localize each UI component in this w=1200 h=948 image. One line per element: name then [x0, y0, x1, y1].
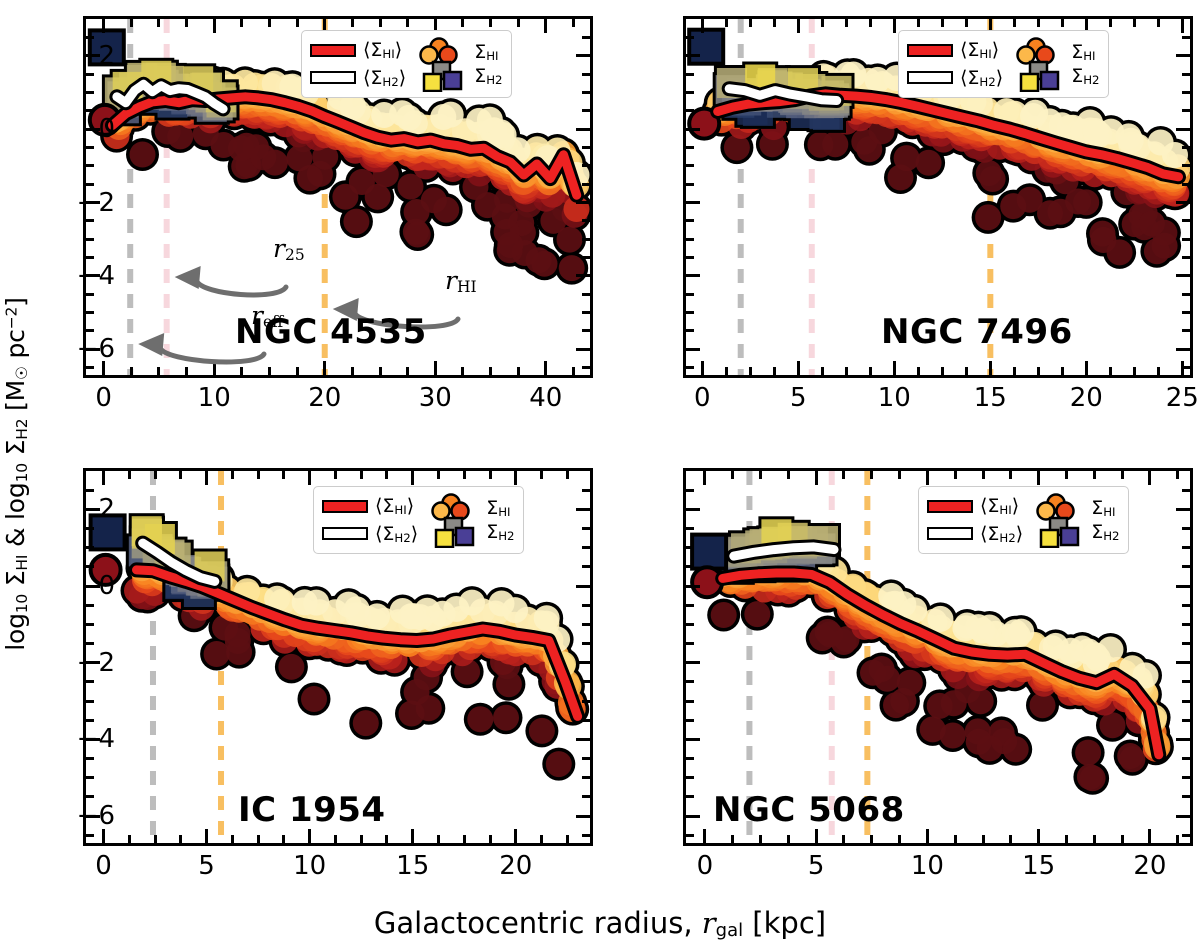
y-tick-minor [86, 700, 94, 703]
legend-item-mean-h2[interactable]: ⟨ΣH2⟩ [310, 67, 406, 89]
y-tick-minor-right [582, 238, 590, 241]
y-tick-minor [686, 164, 694, 167]
x-tick-label: 10 [198, 383, 231, 413]
hi-point [491, 122, 517, 148]
y-tick-minor-right [582, 256, 590, 259]
x-tick-major-top [205, 471, 208, 485]
y-tick-label: −4 [71, 724, 115, 754]
y-tick-minor [86, 795, 94, 798]
y-tick-minor [686, 73, 694, 76]
x-tick-minor-top [1133, 19, 1136, 27]
x-tick-minor [257, 835, 260, 843]
hi-point [975, 204, 1001, 230]
legend-label-sigma-h2: ΣH2 [1071, 65, 1099, 87]
x-tick-label: 5 [808, 851, 825, 881]
y-tick-minor [86, 604, 94, 607]
hi-point [1017, 187, 1043, 213]
y-tick-minor [86, 489, 94, 492]
x-tick-label: 20 [499, 851, 532, 881]
y-tick-minor [686, 642, 694, 645]
x-tick-minor [1109, 367, 1112, 375]
y-tick-minor [86, 91, 94, 94]
hi-point [475, 192, 501, 218]
hi-point [546, 751, 572, 777]
x-tick-minor-top [1009, 471, 1012, 479]
y-tick-major-right [576, 348, 590, 351]
legend-label-mean-h2: ⟨ΣH2⟩ [363, 67, 406, 89]
x-tick-minor-top [787, 471, 790, 479]
x-tick-minor [1013, 367, 1016, 375]
legend-item-mean-hi[interactable]: ⟨ΣHI⟩ [927, 495, 1023, 517]
y-tick-major-right [1176, 815, 1190, 818]
x-tick-minor [982, 835, 985, 843]
y-tick-minor [86, 256, 94, 259]
x-tick-minor-top [240, 19, 243, 27]
h2-point-origin [689, 30, 723, 64]
x-tick-major [701, 361, 704, 375]
y-tick-minor-right [582, 293, 590, 296]
x-tick-minor-top [385, 471, 388, 479]
x-tick-minor [379, 367, 382, 375]
y-tick-minor [86, 680, 94, 683]
annotation-r25: r25 [273, 234, 305, 264]
legend-square-marker-2 [1041, 72, 1058, 89]
y-tick-minor-right [582, 719, 590, 722]
x-tick-minor [1065, 835, 1068, 843]
y-tick-minor-right [582, 164, 590, 167]
x-tick-major [703, 829, 706, 843]
hi-point [286, 145, 312, 171]
y-tick-minor-right [582, 604, 590, 607]
x-tick-minor-top [1176, 471, 1179, 479]
x-tick-label: 5 [198, 851, 215, 881]
y-tick-minor-right [1182, 256, 1190, 259]
y-tick-minor-right [1182, 366, 1190, 369]
x-tick-minor-top [1093, 471, 1096, 479]
y-tick-major-right [576, 201, 590, 204]
x-tick-minor [941, 367, 944, 375]
x-tick-label: 15 [974, 383, 1007, 413]
x-tick-minor [870, 835, 873, 843]
x-tick-major-top [797, 19, 800, 33]
x-tick-label: 30 [419, 383, 452, 413]
hi-point [405, 222, 431, 248]
y-tick-major [686, 128, 700, 131]
hi-point [927, 693, 953, 719]
y-tick-minor [686, 311, 694, 314]
x-tick-minor [179, 835, 182, 843]
x-tick-minor-top [759, 471, 762, 479]
y-tick-minor [86, 146, 94, 149]
hi-point [496, 671, 522, 697]
x-tick-minor-top [1109, 19, 1112, 27]
x-tick-minor-top [870, 471, 873, 479]
legend: ⟨ΣHI⟩⟨ΣH2⟩ΣHIΣH2 [301, 30, 512, 98]
x-tick-major-top [308, 471, 311, 485]
y-tick-major [686, 661, 700, 664]
x-tick-major-top [102, 19, 105, 33]
hi-point [529, 718, 555, 744]
y-tick-label: 2 [71, 41, 115, 71]
x-tick-minor-top [1037, 19, 1040, 27]
x-tick-minor-top [917, 19, 920, 27]
y-tick-minor-right [1182, 73, 1190, 76]
legend-label-mean-hi: ⟨ΣHI⟩ [960, 39, 999, 61]
hi-point [336, 592, 362, 618]
x-tick-minor [385, 835, 388, 843]
y-tick-minor-right [582, 73, 590, 76]
legend-square-marker-2 [444, 72, 461, 89]
x-tick-minor [845, 367, 848, 375]
x-tick-minor [1176, 835, 1179, 843]
y-tick-minor-right [582, 91, 590, 94]
hi-point [807, 132, 833, 158]
y-tick-major-right [1176, 274, 1190, 277]
x-tick-minor-top [351, 19, 354, 27]
y-tick-major-right [1176, 201, 1190, 204]
legend-marker-labels: ΣHIΣH2 [474, 41, 502, 87]
x-tick-minor [725, 367, 728, 375]
x-tick-major [893, 361, 896, 375]
x-tick-minor-top [773, 19, 776, 27]
y-tick-minor [86, 776, 94, 779]
y-tick-minor [86, 109, 94, 112]
y-tick-minor-right [582, 183, 590, 186]
y-tick-label: 0 [71, 114, 115, 144]
legend-item-mean-h2[interactable]: ⟨ΣH2⟩ [907, 67, 1003, 89]
y-tick-minor-right [1182, 834, 1190, 837]
panel-ngc-4535: ⟨ΣHI⟩⟨ΣH2⟩ΣHIΣH2NGC 4535r25reffrHI [83, 16, 593, 378]
legend: ⟨ΣHI⟩⟨ΣH2⟩ΣHIΣH2 [898, 30, 1109, 98]
x-tick-major-top [544, 19, 547, 33]
y-tick-major-right [1176, 661, 1190, 664]
y-tick-major [686, 54, 700, 57]
hi-point [493, 705, 519, 731]
x-tick-major-top [514, 471, 517, 485]
x-tick-minor [489, 835, 492, 843]
y-tick-major-right [1176, 54, 1190, 57]
y-tick-minor-right [582, 366, 590, 369]
y-tick-minor-right [582, 311, 590, 314]
y-tick-major [686, 348, 700, 351]
legend-markers: ΣHIΣH2 [416, 36, 502, 92]
legend-label-sigma-hi: ΣHI [474, 41, 502, 63]
x-tick-minor [566, 835, 569, 843]
x-tick-minor [240, 367, 243, 375]
y-tick-minor [86, 36, 94, 39]
hi-point [1148, 130, 1174, 156]
x-tick-minor-top [954, 471, 957, 479]
y-tick-minor [86, 238, 94, 241]
x-tick-major [1148, 829, 1151, 843]
y-tick-minor-right [1182, 795, 1190, 798]
hi-point [353, 710, 379, 736]
x-tick-major [1085, 361, 1088, 375]
x-tick-minor-top [157, 19, 160, 27]
legend-marker-labels: ΣHIΣH2 [486, 497, 514, 543]
h2-point-origin [692, 535, 726, 569]
y-tick-minor-right [582, 219, 590, 222]
y-tick-minor [686, 36, 694, 39]
x-tick-minor [128, 835, 131, 843]
panel-ic-1954: ⟨ΣHI⟩⟨ΣH2⟩ΣHIΣH2IC 1954 [83, 468, 593, 846]
y-tick-minor [686, 700, 694, 703]
legend-square-marker-1 [436, 530, 453, 547]
y-tick-minor-right [582, 489, 590, 492]
hi-point [1065, 189, 1091, 215]
x-tick-minor-top [296, 19, 299, 27]
y-tick-minor-right [1182, 776, 1190, 779]
x-tick-minor-top [842, 471, 845, 479]
legend-label-sigma-h2: ΣH2 [486, 521, 514, 543]
x-tick-minor [157, 367, 160, 375]
y-tick-minor-right [1182, 642, 1190, 645]
x-tick-minor [773, 367, 776, 375]
y-tick-minor [86, 642, 94, 645]
y-tick-minor-right [582, 834, 590, 837]
y-tick-minor-right [582, 757, 590, 760]
x-tick-minor-top [360, 471, 363, 479]
x-tick-major [323, 361, 326, 375]
x-tick-minor [489, 367, 492, 375]
y-tick-major-right [576, 738, 590, 741]
legend-marker-labels: ΣHIΣH2 [1091, 497, 1119, 543]
y-tick-minor [686, 546, 694, 549]
x-tick-minor-top [257, 471, 260, 479]
x-tick-minor [731, 835, 734, 843]
legend-label-mean-h2: ⟨ΣH2⟩ [960, 67, 1003, 89]
legend-swatch-mean-hi [322, 500, 368, 513]
legend-markers: ΣHIΣH2 [1033, 492, 1119, 548]
y-tick-minor-right [1182, 489, 1190, 492]
y-tick-major [686, 274, 700, 277]
x-tick-major [815, 829, 818, 843]
x-tick-minor [759, 835, 762, 843]
hi-point [228, 135, 254, 161]
x-tick-label: 0 [95, 383, 112, 413]
y-tick-major [686, 815, 700, 818]
y-tick-minor [686, 109, 694, 112]
x-tick-minor-top [572, 19, 575, 27]
x-tick-major [213, 361, 216, 375]
x-tick-minor-top [268, 19, 271, 27]
legend-item-mean-hi[interactable]: ⟨ΣHI⟩ [907, 39, 1003, 61]
hi-point [927, 606, 953, 632]
hi-point [1075, 740, 1101, 766]
y-tick-major [686, 508, 700, 511]
hi-point [894, 145, 920, 171]
x-tick-major-top [701, 19, 704, 33]
x-tick-minor-top [749, 19, 752, 27]
y-tick-minor-right [1182, 109, 1190, 112]
y-tick-minor [686, 329, 694, 332]
y-tick-minor [686, 776, 694, 779]
x-tick-minor-top [185, 19, 188, 27]
y-tick-minor-right [1182, 311, 1190, 314]
y-axis-label: log10 ΣHI & log10 ΣH2 [M☉ pc−2] [0, 0, 36, 948]
legend-label-sigma-hi: ΣHI [486, 497, 514, 519]
legend-item-mean-hi[interactable]: ⟨ΣHI⟩ [322, 495, 418, 517]
y-tick-minor [86, 719, 94, 722]
legend-item-mean-h2[interactable]: ⟨ΣH2⟩ [322, 523, 418, 545]
legend-swatch-mean-h2 [907, 71, 953, 84]
y-tick-minor-right [582, 642, 590, 645]
y-tick-major-right [576, 274, 590, 277]
legend-swatch-mean-hi [927, 500, 973, 513]
x-tick-minor-top [489, 471, 492, 479]
hi-point [952, 615, 978, 641]
x-tick-minor-top [869, 19, 872, 27]
legend-marker-glyphs [416, 36, 468, 92]
y-tick-minor [686, 719, 694, 722]
hi-point [744, 601, 770, 627]
x-tick-major [514, 829, 517, 843]
x-axis-label: Galactocentric radius, rgal [kpc] [0, 902, 1200, 946]
y-tick-major-right [576, 661, 590, 664]
hi-point [1107, 239, 1133, 265]
hi-point [502, 597, 528, 623]
y-tick-minor-right [582, 109, 590, 112]
hi-point [301, 686, 327, 712]
hi-point [916, 150, 942, 176]
x-tick-minor [231, 835, 234, 843]
x-tick-major [797, 361, 800, 375]
hi-point [980, 166, 1006, 192]
x-tick-minor-top [941, 19, 944, 27]
y-tick-minor-right [582, 36, 590, 39]
y-tick-minor [86, 546, 94, 549]
y-tick-major-right [576, 128, 590, 131]
y-tick-minor-right [1182, 604, 1190, 607]
legend-label-mean-hi: ⟨ΣHI⟩ [980, 495, 1019, 517]
hi-point [459, 590, 485, 616]
y-tick-minor [86, 527, 94, 530]
annotation-reff: reff [251, 301, 283, 331]
x-tick-minor-top [437, 471, 440, 479]
x-tick-minor-top [731, 471, 734, 479]
hi-point [292, 589, 318, 615]
x-tick-minor-top [725, 19, 728, 27]
y-tick-minor-right [1182, 680, 1190, 683]
x-tick-major-top [1037, 471, 1040, 485]
y-tick-major [686, 201, 700, 204]
legend-square-marker-2 [456, 528, 473, 545]
x-tick-major-top [703, 471, 706, 485]
x-tick-minor [406, 367, 409, 375]
y-tick-minor-right [582, 527, 590, 530]
legend-label-mean-hi: ⟨ΣHI⟩ [363, 39, 402, 61]
y-tick-major-right [1176, 508, 1190, 511]
x-tick-minor [787, 835, 790, 843]
x-tick-minor [517, 367, 520, 375]
legend-item-mean-h2[interactable]: ⟨ΣH2⟩ [927, 523, 1023, 545]
x-tick-label: 10 [911, 851, 944, 881]
y-tick-major [686, 585, 700, 588]
y-tick-minor [686, 293, 694, 296]
hi-point [1002, 619, 1028, 645]
x-tick-minor [268, 367, 271, 375]
x-tick-major-top [1148, 471, 1151, 485]
y-tick-minor-right [582, 565, 590, 568]
x-tick-minor [1133, 367, 1136, 375]
hi-point [1100, 712, 1126, 738]
y-tick-minor-right [1182, 527, 1190, 530]
hi-point [1139, 211, 1165, 237]
x-tick-minor-top [965, 19, 968, 27]
legend-label-mean-h2: ⟨ΣH2⟩ [980, 523, 1023, 545]
legend-item-mean-hi[interactable]: ⟨ΣHI⟩ [310, 39, 406, 61]
y-tick-minor-right [1182, 219, 1190, 222]
y-tick-major-right [576, 508, 590, 511]
hi-point [130, 142, 156, 168]
y-tick-minor [686, 91, 694, 94]
hi-point [724, 135, 750, 161]
galaxy-name-label: IC 1954 [238, 790, 386, 830]
x-tick-major [308, 829, 311, 843]
x-tick-label: 25 [1166, 383, 1199, 413]
legend-square-marker-2 [1061, 528, 1078, 545]
legend-marker-glyphs [1033, 492, 1085, 548]
legend-markers: ΣHIΣH2 [428, 492, 514, 548]
y-tick-minor [686, 238, 694, 241]
hi-point [396, 105, 422, 131]
hi-point [1080, 765, 1106, 791]
x-tick-minor-top [379, 19, 382, 27]
x-tick-label: 10 [293, 851, 326, 881]
legend-swatch-mean-hi [310, 44, 356, 57]
x-tick-label: 15 [396, 851, 429, 881]
legend-label-sigma-h2: ΣH2 [474, 65, 502, 87]
legend-square-marker-1 [1041, 530, 1058, 547]
y-tick-minor-right [1182, 565, 1190, 568]
y-tick-minor [686, 183, 694, 186]
x-tick-minor-top [130, 19, 133, 27]
x-tick-major [205, 829, 208, 843]
y-tick-minor-right [582, 146, 590, 149]
x-tick-major [434, 361, 437, 375]
x-tick-minor [351, 367, 354, 375]
x-tick-label: 0 [697, 851, 714, 881]
x-tick-label: 0 [95, 851, 112, 881]
y-tick-minor-right [582, 795, 590, 798]
x-tick-minor [842, 835, 845, 843]
x-tick-minor-top [845, 19, 848, 27]
y-tick-minor [86, 219, 94, 222]
y-tick-minor [86, 293, 94, 296]
x-tick-minor [869, 367, 872, 375]
y-tick-minor [686, 680, 694, 683]
x-tick-major [544, 361, 547, 375]
x-tick-minor [1121, 835, 1124, 843]
x-tick-label: 20 [1133, 851, 1166, 881]
y-tick-minor [686, 366, 694, 369]
figure-root: log10 ΣHI & log10 ΣH2 [M☉ pc−2] Galactoc… [0, 0, 1200, 948]
legend-marker-icon [1033, 492, 1085, 548]
x-tick-label: 0 [694, 383, 711, 413]
x-tick-minor-top [463, 471, 466, 479]
x-tick-label: 20 [308, 383, 341, 413]
hi-point [977, 735, 1003, 761]
y-tick-minor [686, 757, 694, 760]
hi-point [1083, 118, 1109, 144]
x-tick-major-top [213, 19, 216, 33]
y-tick-minor [86, 164, 94, 167]
legend-label-sigma-hi: ΣHI [1071, 41, 1099, 63]
x-tick-minor [965, 367, 968, 375]
x-tick-minor-top [231, 471, 234, 479]
x-tick-minor [360, 835, 363, 843]
y-tick-minor [686, 795, 694, 798]
